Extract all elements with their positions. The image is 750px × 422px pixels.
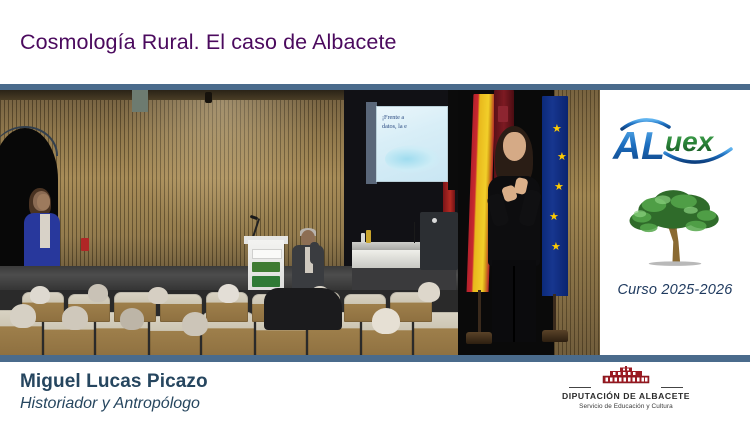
flag-pole <box>478 290 481 336</box>
flag-base <box>542 330 568 342</box>
ceiling-vent <box>132 90 148 112</box>
eu-star-icon: ★ <box>551 242 561 253</box>
flag-eu: ★ ★ ★ ★ ★ <box>542 96 568 296</box>
speaker-role: Historiador y Antropólogo <box>20 393 208 414</box>
loudspeaker-cabinet <box>420 212 458 270</box>
interpreter-leg-gap <box>513 266 515 342</box>
video-stage[interactable]: ¡Frente a datos, la e DIPU <box>0 84 750 362</box>
slide-text-line2: datos, la e <box>382 123 448 132</box>
table-microphone-icon <box>414 222 415 243</box>
page-title: Cosmología Rural. El caso de Albacete <box>20 30 397 55</box>
fire-alarm-icon <box>81 238 89 251</box>
audience-head <box>218 284 239 303</box>
speaker-name: Miguel Lucas Picazo <box>20 370 208 393</box>
audience-head <box>120 308 144 330</box>
audience-head <box>88 284 108 302</box>
video-stage-inner: ¡Frente a datos, la e DIPU <box>0 90 750 355</box>
institution-logo: DIPUTACIÓN DE ALBACETE Servicio de Educa… <box>560 366 692 410</box>
interpreter-face <box>503 132 526 161</box>
svg-text:AL: AL <box>612 125 665 168</box>
auditorium-wide-shot: ¡Frente a datos, la e DIPU <box>0 90 458 355</box>
speaker-arm <box>310 242 319 264</box>
loudspeaker-indicator-icon <box>432 218 437 223</box>
building-icon <box>600 366 652 386</box>
spotlight-icon <box>205 92 212 103</box>
flag-region-emblem <box>498 106 508 122</box>
header-bar: Cosmología Rural. El caso de Albacete <box>0 0 750 84</box>
institution-name: DIPUTACIÓN DE ALBACETE <box>560 391 692 401</box>
eu-star-icon: ★ <box>554 182 564 193</box>
audience-seating <box>0 290 458 355</box>
institution-divider <box>560 387 692 388</box>
slide-text: ¡Frente a datos, la e <box>382 114 448 131</box>
audience-head <box>372 308 400 334</box>
speaker-info: Miguel Lucas Picazo Historiador y Antrop… <box>20 370 208 414</box>
eu-star-icon: ★ <box>549 212 559 223</box>
institution-subtitle: Servicio de Educación y Cultura <box>560 403 692 410</box>
audience-head <box>182 312 208 336</box>
audience-head <box>30 286 50 304</box>
sign-language-interpreter-panel: ★ ★ ★ ★ ★ <box>458 90 600 355</box>
slide-graphic <box>385 145 440 173</box>
attendee-face <box>37 194 50 210</box>
projection-screen: ¡Frente a datos, la e <box>376 106 448 182</box>
tree-icon <box>620 184 730 268</box>
audience-head <box>148 287 168 304</box>
slide-text-line1: ¡Frente a <box>382 114 448 123</box>
eu-star-icon: ★ <box>557 152 567 163</box>
wall-light-highlight <box>120 90 320 240</box>
glass-icon <box>361 233 365 243</box>
bottle-icon <box>366 230 371 243</box>
audience-head <box>418 282 440 302</box>
podium-sponsor-logo-2 <box>252 276 280 287</box>
divider-left <box>569 387 591 388</box>
podium-sponsor-logo-1 <box>252 262 280 272</box>
divider-right <box>661 387 683 388</box>
course-label: Curso 2025-2026 <box>617 282 732 298</box>
coat-on-seat <box>264 288 342 330</box>
footer-bar: Miguel Lucas Picazo Historiador y Antrop… <box>0 362 750 422</box>
audience-head <box>10 304 36 328</box>
podium-plaque <box>252 249 282 259</box>
aluex-logo: AL uex <box>609 114 741 168</box>
attendee-shirt <box>40 214 50 248</box>
eu-star-icon: ★ <box>552 124 562 135</box>
branding-panel: AL uex <box>600 90 750 355</box>
svg-text:uex: uex <box>665 126 715 157</box>
flag-base <box>466 332 492 344</box>
audience-head <box>62 306 88 330</box>
screen-right-frame <box>448 90 458 190</box>
